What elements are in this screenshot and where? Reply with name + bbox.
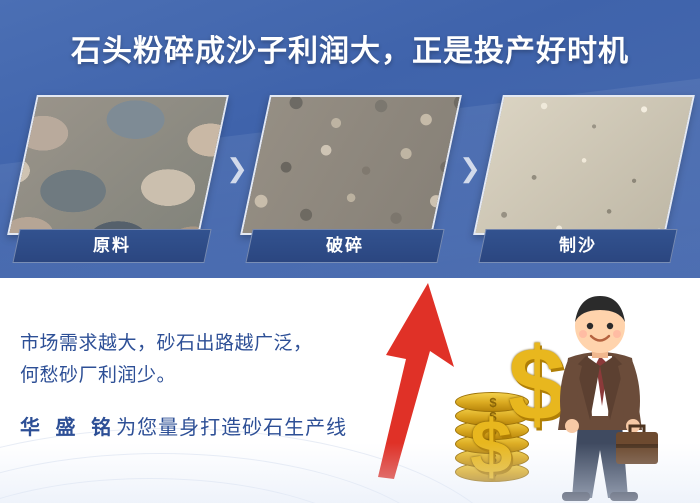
process-card-label-text: 原料: [17, 230, 207, 262]
process-card-sand-making[interactable]: 制沙: [488, 95, 680, 270]
process-card-label-text: 制沙: [483, 230, 673, 262]
process-card-label-text: 破碎: [250, 230, 440, 262]
process-card-label: 原料: [12, 229, 211, 263]
brand-tagline: 华 盛 铭为您量身打造砂石生产线: [20, 414, 380, 442]
process-card-crushing[interactable]: 破碎: [255, 95, 447, 270]
brand-tagline-text: 为您量身打造砂石生产线: [116, 417, 347, 439]
chevron-right-icon: ❯: [457, 155, 483, 181]
chevron-right-icon: ❯: [224, 155, 250, 181]
process-card-label: 制沙: [478, 229, 677, 263]
brand-name: 华 盛 铭: [20, 417, 116, 439]
process-card-row: 原料 ❯ 破碎 ❯ 制沙: [0, 95, 700, 270]
manufactured-sand-photo: [473, 95, 695, 235]
poster-canvas: 石头粉碎成沙子利润大，正是投产好时机 原料 ❯ 破碎 ❯: [0, 0, 700, 503]
process-card-label: 破碎: [245, 229, 444, 263]
bottom-gradient: [0, 443, 700, 503]
marketing-line-2: 何愁砂厂利润少。: [20, 360, 380, 392]
marketing-line-1: 市场需求越大，砂石出路越广泛，: [20, 328, 380, 360]
marketing-copy: 市场需求越大，砂石出路越广泛， 何愁砂厂利润少。 华 盛 铭为您量身打造砂石生产…: [20, 328, 380, 442]
pebbles-photo: [7, 95, 229, 235]
page-title: 石头粉碎成沙子利润大，正是投产好时机: [0, 26, 700, 70]
top-blue-panel: 石头粉碎成沙子利润大，正是投产好时机 原料 ❯ 破碎 ❯: [0, 0, 700, 278]
bottom-section: 市场需求越大，砂石出路越广泛， 何愁砂厂利润少。 华 盛 铭为您量身打造砂石生产…: [0, 278, 700, 503]
process-card-raw-material[interactable]: 原料: [22, 95, 214, 270]
crushed-gravel-photo: [240, 95, 462, 235]
